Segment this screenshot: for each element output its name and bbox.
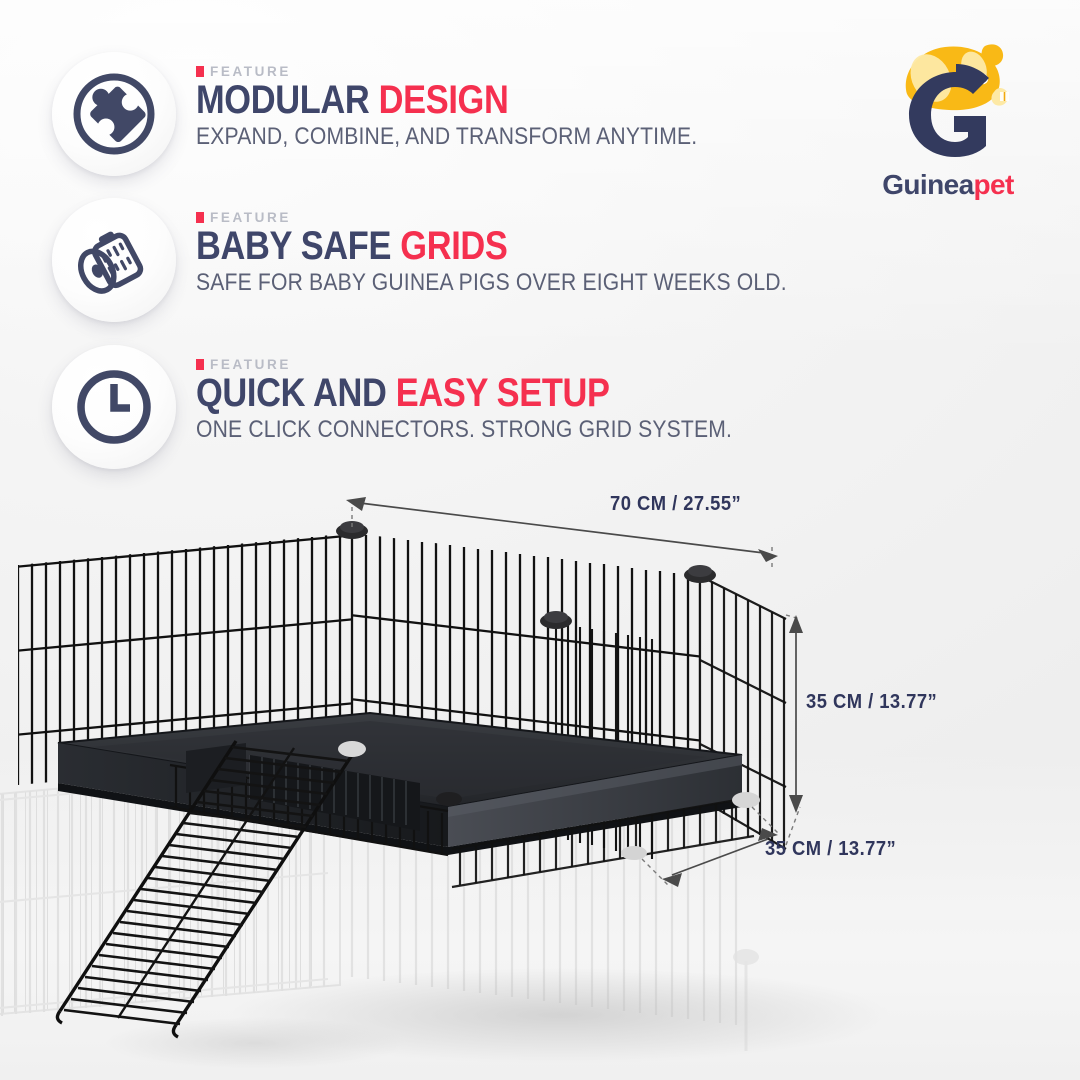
infographic-canvas: FEATURE MODULAR DESIGN EXPAND, COMBINE, … — [0, 0, 1080, 1080]
plastic-connector-cap-ghost — [621, 846, 647, 860]
kicker-label: FEATURE — [210, 357, 291, 372]
plastic-connector-cap — [436, 792, 462, 806]
plastic-connector-cap-ghost — [732, 792, 760, 808]
kicker-square-icon — [196, 359, 204, 370]
headline-primary: QUICK AND — [196, 371, 387, 415]
feature-kicker: FEATURE — [196, 357, 805, 372]
wordmark-pet: pet — [974, 169, 1014, 200]
feature-text-block: FEATURE MODULAR DESIGN EXPAND, COMBINE, … — [196, 52, 766, 151]
plastic-connector-cap — [684, 565, 716, 583]
wordmark-guinea: Guinea — [882, 169, 973, 200]
kicker-label: FEATURE — [210, 64, 291, 79]
measuring-tape-icon — [52, 198, 176, 322]
feature-kicker: FEATURE — [196, 210, 867, 225]
kicker-square-icon — [196, 66, 204, 77]
dimension-line-height — [786, 615, 803, 845]
headline-accent: GRIDS — [400, 224, 507, 268]
feature-subtitle: SAFE FOR BABY GUINEA PIGS OVER EIGHT WEE… — [196, 269, 787, 297]
clock-icon — [52, 345, 176, 469]
kicker-label: FEATURE — [210, 210, 291, 225]
feature-headline: BABY SAFE GRIDS — [196, 227, 773, 266]
product-illustration: 70 CM / 27.55” 35 CM / 13.77” 35 CM / 13… — [0, 455, 1080, 1080]
feature-item-baby-safe-grids: FEATURE BABY SAFE GRIDS SAFE FOR BABY GU… — [52, 198, 867, 322]
dimension-label-width: 70 CM / 27.55” — [610, 493, 741, 516]
feature-headline: MODULAR DESIGN — [196, 81, 686, 120]
kicker-square-icon — [196, 212, 204, 223]
brand-wordmark: Guineapet — [858, 169, 1038, 201]
feature-text-block: FEATURE QUICK AND EASY SETUP ONE CLICK C… — [196, 345, 805, 444]
feature-item-quick-easy-setup: FEATURE QUICK AND EASY SETUP ONE CLICK C… — [52, 345, 805, 469]
dimension-label-depth: 35 CM / 13.77” — [765, 838, 896, 861]
feature-kicker: FEATURE — [196, 64, 766, 79]
headline-primary: BABY SAFE — [196, 224, 391, 268]
headline-accent: EASY SETUP — [396, 371, 610, 415]
feature-item-modular-design: FEATURE MODULAR DESIGN EXPAND, COMBINE, … — [52, 52, 766, 176]
headline-accent: DESIGN — [379, 78, 509, 122]
brand-logo: Guineapet — [858, 32, 1038, 201]
feature-subtitle: ONE CLICK CONNECTORS. STRONG GRID SYSTEM… — [196, 416, 732, 444]
puzzle-piece-icon — [52, 52, 176, 176]
feature-text-block: FEATURE BABY SAFE GRIDS SAFE FOR BABY GU… — [196, 198, 867, 297]
headline-primary: MODULAR — [196, 78, 369, 122]
plastic-connector-cap — [540, 611, 572, 629]
plastic-connector-cap-ghost — [338, 741, 366, 757]
guinea-pig-logo-icon — [873, 32, 1023, 167]
feature-headline: QUICK AND EASY SETUP — [196, 374, 720, 413]
feature-subtitle: EXPAND, COMBINE, AND TRANSFORM ANYTIME. — [196, 123, 697, 151]
dimension-label-height: 35 CM / 13.77” — [806, 691, 937, 714]
